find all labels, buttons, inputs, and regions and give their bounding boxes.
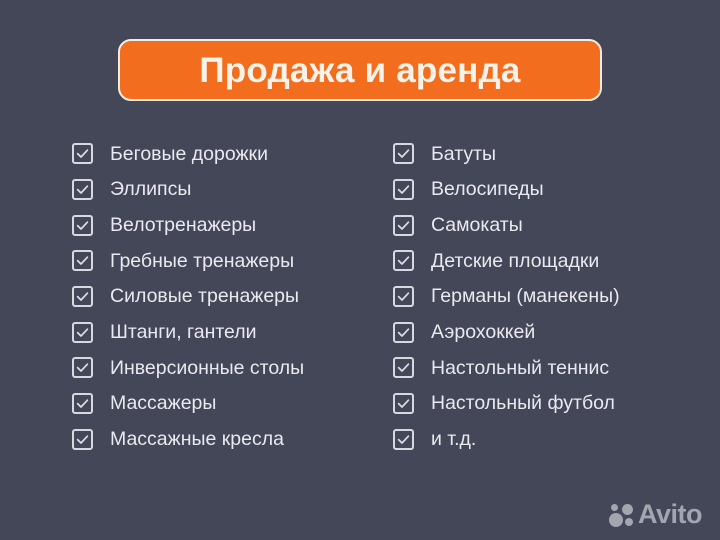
list-item[interactable]: Настольный футбол — [393, 386, 693, 422]
list-item[interactable]: Германы (манекены) — [393, 279, 693, 315]
promo-banner: Продажа и аренда Беговые дорожкиЭллипсыВ… — [0, 0, 720, 540]
check-icon — [75, 396, 90, 411]
list-item-label: Настольный теннис — [431, 357, 609, 379]
checkbox-checked[interactable] — [72, 393, 93, 414]
checkbox-checked[interactable] — [393, 429, 414, 450]
list-item[interactable]: Массажные кресла — [72, 422, 372, 458]
checkbox-checked[interactable] — [72, 357, 93, 378]
list-item-label: Велосипеды — [431, 178, 544, 200]
list-item[interactable]: и т.д. — [393, 422, 693, 458]
check-icon — [396, 289, 411, 304]
list-item[interactable]: Массажеры — [72, 386, 372, 422]
page-title: Продажа и аренда — [199, 53, 520, 88]
list-item-label: Силовые тренажеры — [110, 285, 299, 307]
check-icon — [396, 218, 411, 233]
checkbox-checked[interactable] — [393, 393, 414, 414]
checkbox-checked[interactable] — [393, 286, 414, 307]
list-item[interactable]: Инверсионные столы — [72, 350, 372, 386]
list-item[interactable]: Настольный теннис — [393, 350, 693, 386]
avito-watermark: Avito — [609, 501, 702, 528]
list-item-label: Велотренажеры — [110, 214, 256, 236]
checkbox-checked[interactable] — [393, 250, 414, 271]
check-icon — [75, 218, 90, 233]
checkbox-checked[interactable] — [72, 322, 93, 343]
check-icon — [396, 432, 411, 447]
checkbox-checked[interactable] — [72, 215, 93, 236]
checkbox-checked[interactable] — [72, 250, 93, 271]
list-item[interactable]: Гребные тренажеры — [72, 243, 372, 279]
check-icon — [396, 146, 411, 161]
list-item-label: Массажные кресла — [110, 428, 284, 450]
check-icon — [75, 432, 90, 447]
list-item-label: Аэрохоккей — [431, 321, 535, 343]
list-item-label: Эллипсы — [110, 178, 191, 200]
check-icon — [396, 182, 411, 197]
checkbox-checked[interactable] — [72, 286, 93, 307]
checklist-column-right: БатутыВелосипедыСамокатыДетские площадки… — [393, 136, 693, 457]
check-icon — [396, 253, 411, 268]
list-item-label: Батуты — [431, 143, 496, 165]
list-item-label: Детские площадки — [431, 250, 599, 272]
checkbox-checked[interactable] — [393, 215, 414, 236]
check-icon — [75, 289, 90, 304]
check-icon — [396, 360, 411, 375]
list-item-label: Гребные тренажеры — [110, 250, 294, 272]
check-icon — [75, 146, 90, 161]
list-item-label: Массажеры — [110, 392, 216, 414]
checkbox-checked[interactable] — [393, 143, 414, 164]
check-icon — [75, 253, 90, 268]
checkbox-checked[interactable] — [72, 179, 93, 200]
check-icon — [75, 182, 90, 197]
checkbox-checked[interactable] — [72, 143, 93, 164]
checkbox-checked[interactable] — [393, 179, 414, 200]
check-icon — [396, 396, 411, 411]
list-item[interactable]: Самокаты — [393, 207, 693, 243]
checkbox-checked[interactable] — [393, 322, 414, 343]
list-item[interactable]: Велотренажеры — [72, 207, 372, 243]
list-item-label: и т.д. — [431, 428, 476, 450]
list-item-label: Беговые дорожки — [110, 143, 268, 165]
list-item[interactable]: Эллипсы — [72, 172, 372, 208]
list-item-label: Настольный футбол — [431, 392, 615, 414]
list-item-label: Германы (манекены) — [431, 285, 620, 307]
checkbox-checked[interactable] — [72, 429, 93, 450]
list-item-label: Инверсионные столы — [110, 357, 304, 379]
list-item[interactable]: Велосипеды — [393, 172, 693, 208]
list-item[interactable]: Силовые тренажеры — [72, 279, 372, 315]
avito-wordmark: Avito — [638, 501, 702, 528]
list-item[interactable]: Аэрохоккей — [393, 314, 693, 350]
checklist-column-left: Беговые дорожкиЭллипсыВелотренажерыГребн… — [72, 136, 372, 457]
list-item[interactable]: Батуты — [393, 136, 693, 172]
title-banner: Продажа и аренда — [118, 39, 602, 101]
list-item-label: Самокаты — [431, 214, 523, 236]
check-icon — [75, 325, 90, 340]
list-item[interactable]: Беговые дорожки — [72, 136, 372, 172]
list-item[interactable]: Штанги, гантели — [72, 314, 372, 350]
checkbox-checked[interactable] — [393, 357, 414, 378]
avito-dots-icon — [609, 502, 635, 528]
check-icon — [75, 360, 90, 375]
list-item-label: Штанги, гантели — [110, 321, 257, 343]
list-item[interactable]: Детские площадки — [393, 243, 693, 279]
check-icon — [396, 325, 411, 340]
